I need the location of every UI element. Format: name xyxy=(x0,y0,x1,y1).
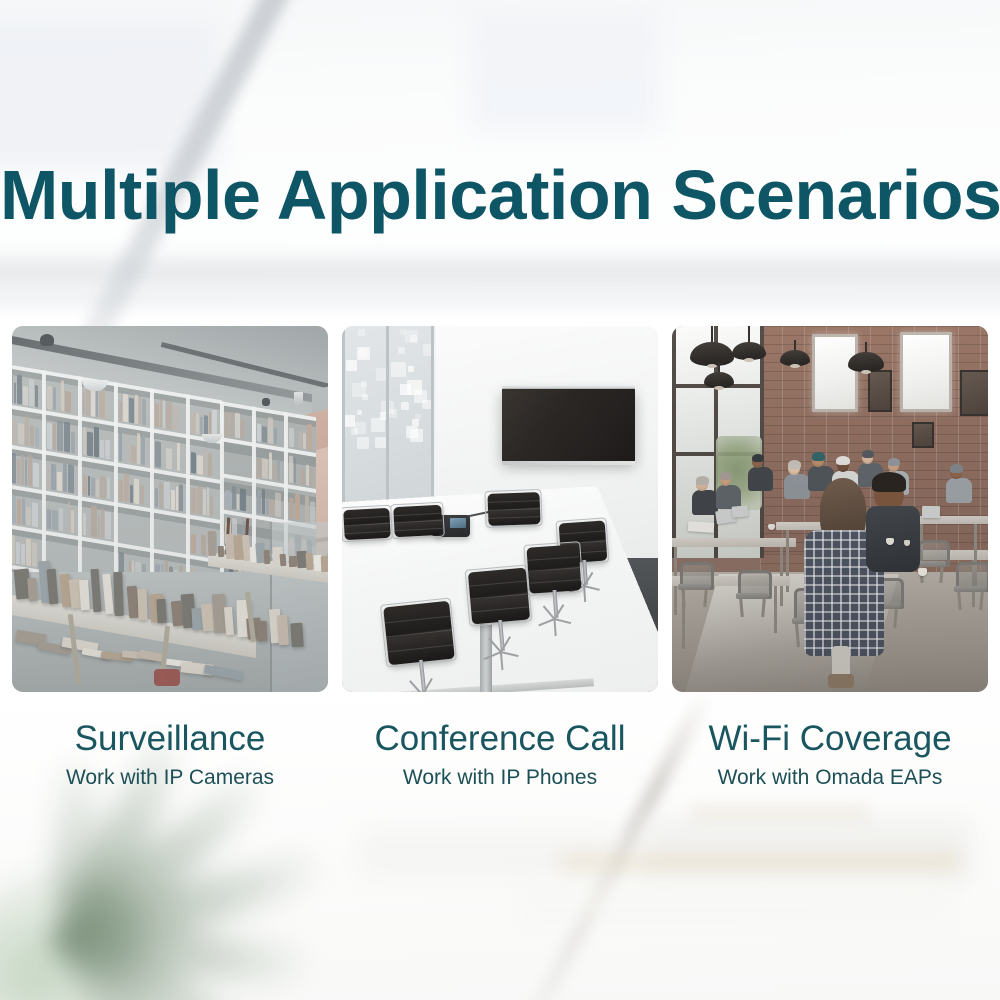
display-book xyxy=(290,622,304,647)
background-ceiling-band xyxy=(0,292,1000,314)
person-hair xyxy=(812,452,825,461)
chair-chrome-frame xyxy=(380,598,457,668)
scenario-card-surveillance: Surveillance Work with IP Cameras xyxy=(12,326,328,790)
frosted-square xyxy=(415,414,421,420)
pendant-light xyxy=(780,340,810,382)
office-chair xyxy=(526,544,581,594)
caption-wifi-coverage: Wi-Fi Coverage Work with Omada EAPs xyxy=(672,720,988,790)
office-chair xyxy=(487,492,540,526)
display-book xyxy=(208,531,217,556)
chair-chrome-frame xyxy=(342,505,393,543)
frosted-square xyxy=(357,410,362,415)
framed-artwork xyxy=(960,370,988,416)
display-book xyxy=(280,554,287,566)
framed-artwork xyxy=(912,422,934,448)
cafe-patron xyxy=(748,456,777,501)
person-hair xyxy=(950,464,963,473)
chair-chrome-frame xyxy=(484,489,542,528)
pendant-bulb xyxy=(744,358,754,362)
person-hair xyxy=(872,472,906,492)
person-hair xyxy=(696,476,709,485)
display-book xyxy=(113,572,124,616)
frosted-square xyxy=(422,400,431,409)
background-blur-shape xyxy=(520,880,950,920)
pendant-lamp xyxy=(294,392,303,406)
track-spotlight xyxy=(262,398,270,406)
frosted-square xyxy=(346,360,357,371)
background-blur-shape xyxy=(640,820,970,880)
pendant-cord xyxy=(711,326,713,342)
frosted-square xyxy=(354,422,366,434)
display-book xyxy=(257,621,267,641)
office-chair xyxy=(393,505,443,537)
display-book xyxy=(79,580,90,611)
pendant-cord xyxy=(865,342,867,352)
cafe-photo xyxy=(672,326,988,692)
frosted-square xyxy=(371,418,385,432)
display-book xyxy=(138,589,148,620)
person-hair xyxy=(836,456,850,465)
metal-cafe-chair xyxy=(680,562,708,602)
frosted-square xyxy=(362,394,368,400)
frosted-square xyxy=(357,437,369,449)
paper-documents xyxy=(688,521,715,533)
chair-leg xyxy=(739,599,744,617)
frosted-square xyxy=(400,384,411,395)
pendant-bulb xyxy=(714,386,724,390)
background-warm-strip xyxy=(560,855,960,869)
window-mullion xyxy=(672,326,676,558)
frosted-square xyxy=(406,426,418,438)
phone-screen xyxy=(450,518,466,528)
floor-object xyxy=(154,669,180,686)
person-hair xyxy=(862,450,874,458)
office-chair xyxy=(468,568,530,625)
wall-mounted-tv xyxy=(502,388,635,462)
caption-conference-call: Conference Call Work with IP Phones xyxy=(342,720,658,790)
frosted-square xyxy=(412,419,419,426)
brick-wall-window xyxy=(900,332,952,412)
person-torso xyxy=(946,478,972,504)
frosted-square xyxy=(410,335,417,342)
pendant-light xyxy=(704,362,734,404)
metal-cafe-chair xyxy=(738,570,766,612)
table-leg xyxy=(774,586,777,633)
laptop xyxy=(732,505,749,517)
coffee-cup xyxy=(918,568,927,576)
marketing-banner: Multiple Application Scenarios xyxy=(0,0,1000,1000)
tv-bezel-bottom xyxy=(502,461,635,465)
chair-leg xyxy=(957,592,962,611)
frosted-square xyxy=(401,402,409,410)
scenario-card-conference-call: Conference Call Work with IP Phones xyxy=(342,326,658,790)
display-book xyxy=(218,546,225,557)
frosted-square xyxy=(400,329,406,335)
frosted-square xyxy=(359,349,367,357)
conference-room-photo xyxy=(342,326,658,692)
chair-leg xyxy=(681,590,685,607)
person-torso xyxy=(748,467,773,491)
cafe-table xyxy=(672,538,796,547)
bookstore-photo xyxy=(12,326,328,692)
caption-surveillance: Surveillance Work with IP Cameras xyxy=(12,720,328,790)
display-book xyxy=(277,614,289,645)
cafe-patron xyxy=(946,466,976,514)
page-title: Multiple Application Scenarios xyxy=(0,158,1000,232)
pendant-light xyxy=(848,342,884,388)
display-book xyxy=(264,550,271,564)
chair-chrome-frame xyxy=(465,564,533,626)
person-hair xyxy=(888,458,900,466)
background-warm-strip xyxy=(690,808,870,818)
pendant-cord xyxy=(748,326,750,342)
track-spotlight xyxy=(40,334,54,346)
display-book xyxy=(27,577,38,601)
office-chair xyxy=(383,601,455,666)
chair-chrome-frame xyxy=(390,502,445,540)
person-hair xyxy=(720,472,732,480)
card-title: Surveillance xyxy=(12,720,328,758)
pendant-light xyxy=(732,326,766,370)
person-hair xyxy=(788,460,801,469)
frosted-square xyxy=(391,362,406,377)
card-title: Wi-Fi Coverage xyxy=(672,720,988,758)
card-subtitle: Work with Omada EAPs xyxy=(672,766,988,790)
office-chair xyxy=(343,508,391,540)
pendant-cord xyxy=(794,340,796,350)
display-book xyxy=(156,599,166,623)
frosted-square xyxy=(398,347,405,354)
pendant-bulb xyxy=(790,364,800,368)
person-torso xyxy=(692,490,718,516)
pendant-shade xyxy=(848,352,884,372)
laptop xyxy=(922,506,940,518)
frosted-square xyxy=(375,437,386,448)
card-subtitle: Work with IP Phones xyxy=(342,766,658,790)
card-title: Conference Call xyxy=(342,720,658,758)
person-hair xyxy=(752,454,764,462)
frosted-square xyxy=(358,329,365,336)
tv-bezel-top xyxy=(502,386,635,389)
foreground-patron-seated xyxy=(866,472,924,582)
person-boot xyxy=(828,674,854,688)
scenario-card-wifi-coverage: Wi-Fi Coverage Work with Omada EAPs xyxy=(672,326,988,790)
frosted-square xyxy=(408,366,414,372)
metal-cafe-chair xyxy=(956,562,984,606)
pendant-cord xyxy=(718,362,720,372)
chair-chrome-frame xyxy=(523,541,583,596)
scenario-card-row: Surveillance Work with IP Cameras xyxy=(12,326,988,790)
background-blur-shape xyxy=(360,830,620,876)
coffee-cup xyxy=(904,540,910,546)
background-window-pane xyxy=(470,10,660,130)
card-subtitle: Work with IP Cameras xyxy=(12,766,328,790)
pendant-bulb xyxy=(861,370,871,374)
